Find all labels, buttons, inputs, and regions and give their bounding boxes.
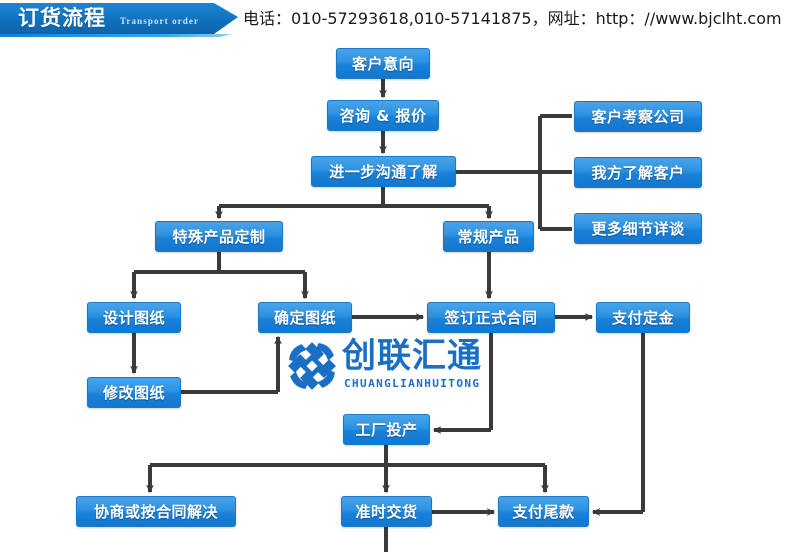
node-we-understand-customer[interactable]: 我方了解客户 xyxy=(574,157,702,188)
node-label: 常规产品 xyxy=(457,226,519,247)
node-customer-intent[interactable]: 客户意向 xyxy=(336,48,430,79)
node-label: 客户考察公司 xyxy=(591,106,684,127)
node-label: 特殊产品定制 xyxy=(172,226,265,247)
node-label: 我方了解客户 xyxy=(591,162,684,183)
node-negotiate-or-by-contract[interactable]: 协商或按合同解决 xyxy=(76,496,236,527)
node-sign-formal-contract[interactable]: 签订正式合同 xyxy=(427,302,555,333)
node-confirm-drawing[interactable]: 确定图纸 xyxy=(258,302,352,333)
node-standard-product[interactable]: 常规产品 xyxy=(443,221,534,252)
node-pay-deposit[interactable]: 支付定金 xyxy=(596,302,690,333)
node-label: 工厂投产 xyxy=(355,419,417,440)
node-label: 签订正式合同 xyxy=(444,307,537,328)
page-title: 订货流程 xyxy=(18,5,106,31)
flowchart-canvas: 客户意向 咨询 & 报价 进一步沟通了解 客户考察公司 我方了解客户 更多细节详… xyxy=(0,40,790,552)
node-label: 更多细节详谈 xyxy=(591,218,684,239)
node-consult-quote[interactable]: 咨询 & 报价 xyxy=(327,100,439,131)
node-label: 协商或按合同解决 xyxy=(94,501,218,522)
node-pay-balance[interactable]: 支付尾款 xyxy=(498,496,589,527)
node-on-time-delivery[interactable]: 准时交货 xyxy=(341,496,432,527)
node-further-communication[interactable]: 进一步沟通了解 xyxy=(311,156,456,187)
node-design-drawing[interactable]: 设计图纸 xyxy=(87,302,181,333)
node-label: 支付定金 xyxy=(612,307,674,328)
node-label: 客户意向 xyxy=(352,53,414,74)
contact-info: 电话：010-57293618,010-57141875，网址：http：//w… xyxy=(243,6,782,32)
node-factory-production[interactable]: 工厂投产 xyxy=(343,414,430,445)
node-label: 确定图纸 xyxy=(274,307,336,328)
page-header: 订货流程 Transport order 电话：010-57293618,010… xyxy=(0,0,790,40)
node-label: 修改图纸 xyxy=(103,382,165,403)
node-label: 咨询 & 报价 xyxy=(339,105,426,126)
node-label: 支付尾款 xyxy=(512,501,574,522)
node-label: 设计图纸 xyxy=(103,307,165,328)
node-revise-drawing[interactable]: 修改图纸 xyxy=(87,377,181,408)
header-banner-underline xyxy=(0,34,232,37)
page-subtitle: Transport order xyxy=(120,16,199,26)
node-label: 进一步沟通了解 xyxy=(329,161,438,182)
node-more-details-discussion[interactable]: 更多细节详谈 xyxy=(574,213,702,244)
node-custom-product[interactable]: 特殊产品定制 xyxy=(155,221,283,252)
node-label: 准时交货 xyxy=(355,501,417,522)
node-customer-visits-company[interactable]: 客户考察公司 xyxy=(574,101,702,132)
